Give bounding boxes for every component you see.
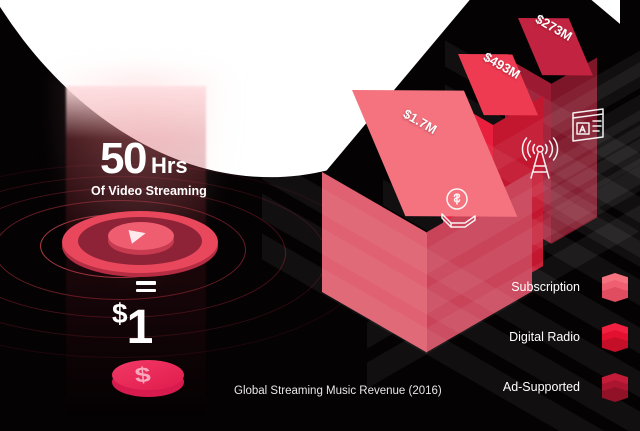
legend-label-subscription: Subscription [511,280,580,294]
chart-caption: Global Streaming Music Revenue (2016) [234,385,442,397]
legend-item-ad-supported[interactable]: Ad-Supported [452,376,632,426]
radio-tower-icon [518,136,562,182]
dollar-sign-icon: $ [134,364,152,389]
legend-swatch-subscription [598,272,632,306]
hours-subtitle: Of Video Streaming [91,184,207,198]
legend-label-ad-supported: Ad-Supported [503,380,580,394]
legend-item-subscription[interactable]: Subscription [452,276,632,326]
hours-value-group: 50Hrs [100,134,188,184]
legend-label-digital-radio: Digital Radio [509,330,580,344]
equals-icon [136,281,156,296]
price-currency: $ [112,298,127,329]
legend-swatch-digital-radio [598,322,632,356]
hours-unit: Hrs [151,153,188,178]
chart-legend: Subscription Digital Radio Ad-Supported [452,276,632,426]
hand-holding-coin-icon [437,184,483,230]
price-number: 1 [127,301,153,354]
hours-number: 50 [100,134,146,183]
legend-swatch-ad-supported [598,372,632,406]
price-value-group: $1 [112,300,152,352]
ad-browser-icon [570,106,610,142]
legend-item-digital-radio[interactable]: Digital Radio [452,326,632,376]
isometric-bar-chart: $1.7M $493M $273M [330,2,630,302]
infographic-canvas: 50Hrs Of Video Streaming $1 $ Global Str… [0,0,640,431]
